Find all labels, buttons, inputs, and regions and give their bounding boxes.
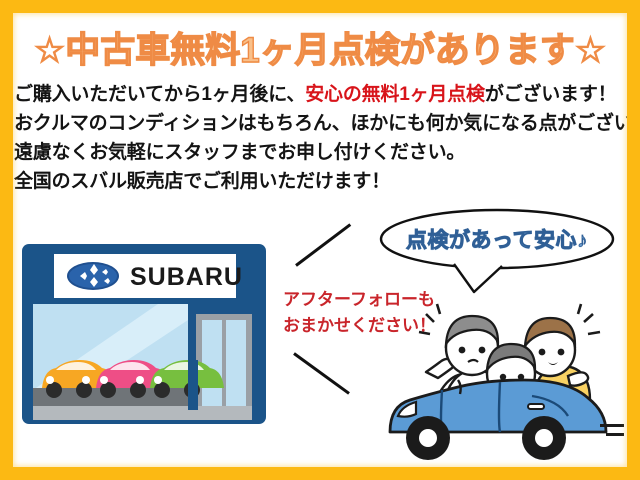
pavement xyxy=(33,406,252,420)
body-copy: ご購入いただいてから1ヶ月後に、安心の無料1ヶ月点検がございます！ おクルマのコ… xyxy=(14,80,626,196)
lead-line-bottom xyxy=(293,352,350,394)
body-line-1: ご購入いただいてから1ヶ月後に、安心の無料1ヶ月点検がございます！ xyxy=(14,80,626,109)
promo-banner: ☆中古車無料1ヶ月点検があります☆ ご購入いただいてから1ヶ月後に、安心の無料1… xyxy=(0,0,640,480)
mother-excite-marks xyxy=(578,304,600,334)
red-caption-line-2: おまかせください！ xyxy=(283,313,436,339)
motion-line-1 xyxy=(600,424,624,427)
speech-bubble: 点検があって安心♪ xyxy=(378,208,616,270)
body-line-1-part2: がございます！ xyxy=(485,84,617,105)
body-line-1-highlight: 安心の無料1ヶ月点検 xyxy=(305,84,485,105)
motion-lines xyxy=(600,424,626,442)
subaru-six-star-logo xyxy=(67,262,119,290)
body-line-1-part1: ご購入いただいてから1ヶ月後に、 xyxy=(14,84,305,105)
subaru-wordmark: SUBARU xyxy=(130,263,243,291)
entrance-door-right xyxy=(226,320,246,410)
car-door-handle xyxy=(528,404,544,409)
body-line-3: 遠慮なくお気軽にスタッフまでお申し付けください。 xyxy=(14,138,626,167)
blue-car xyxy=(390,380,606,460)
motion-line-2 xyxy=(606,433,624,436)
speech-bubble-text: 点検があって安心♪ xyxy=(378,208,616,270)
body-line-4: 全国のスバル販売店でご利用いただけます！ xyxy=(14,167,626,196)
dealership-illustration: SUBARU xyxy=(18,240,270,437)
page-title: ☆中古車無料1ヶ月点検があります☆ xyxy=(0,22,640,73)
mother-raised-fist xyxy=(568,372,588,385)
body-line-2: おクルマのコンディションはもちろん、ほかにも何か気になる点がございましたら xyxy=(14,109,626,138)
lead-line-top xyxy=(295,223,351,266)
